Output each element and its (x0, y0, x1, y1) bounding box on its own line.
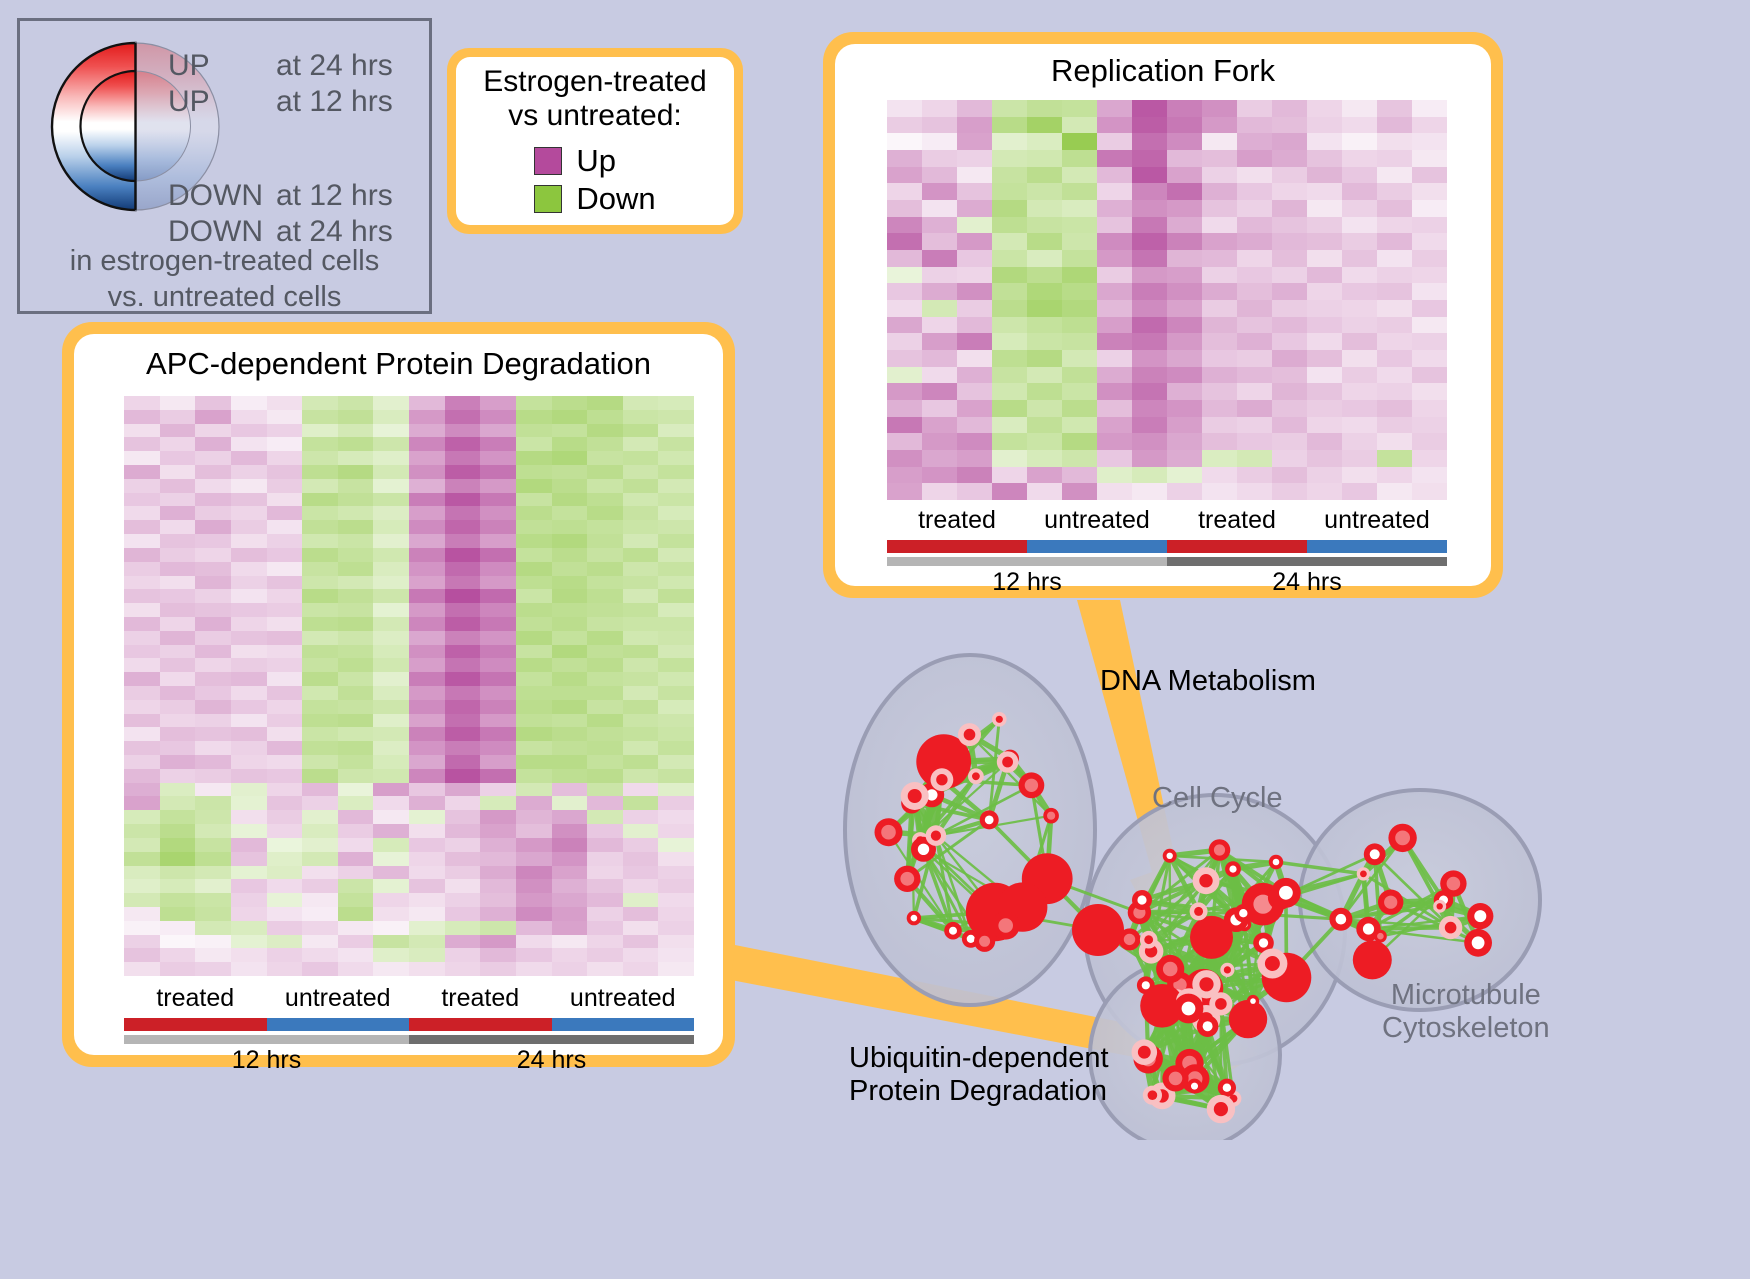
heatmap-cell (1307, 300, 1342, 317)
heatmap-cell (267, 810, 303, 824)
heatmap-cell (1377, 483, 1412, 500)
heatmap-cell (516, 962, 552, 976)
heatmap-cell (480, 824, 516, 838)
heatmap-cell (231, 479, 267, 493)
heatmap-cell (623, 562, 659, 576)
heatmap-cell (1377, 417, 1412, 434)
heatmap-cell (1027, 267, 1062, 284)
replication-fork-panel: Replication Fork treated untreated treat… (823, 32, 1503, 598)
heatmap-cell (480, 506, 516, 520)
heatmap-cell (1412, 183, 1447, 200)
heatmap-cell (409, 465, 445, 479)
heatmap-cell (1272, 283, 1307, 300)
heatmap-cell (516, 465, 552, 479)
heatmap-cell (124, 935, 160, 949)
heatmap-cell (338, 866, 374, 880)
heatmap-cell (195, 576, 231, 590)
heatmap-cell (887, 417, 922, 434)
heatmap-cell (160, 948, 196, 962)
heatmap-cell (1237, 217, 1272, 234)
heatmap-cell (516, 424, 552, 438)
heatmap-cell (1307, 467, 1342, 484)
network-node-core (1239, 909, 1247, 917)
heatmap-cell (231, 783, 267, 797)
heatmap-cell (373, 672, 409, 686)
heatmap-cell (1132, 150, 1167, 167)
heatmap-cell (409, 824, 445, 838)
heatmap-cell (267, 769, 303, 783)
heatmap-cell (302, 935, 338, 949)
heatmap-cell (1307, 383, 1342, 400)
apc-panel: APC-dependent Protein Degradation treate… (62, 322, 735, 1067)
heatmap-cell (1307, 183, 1342, 200)
heatmap-cell (1377, 150, 1412, 167)
legend-key: UP (168, 87, 276, 117)
heatmap-cell (658, 755, 694, 769)
heatmap-cell (409, 741, 445, 755)
heatmap-cell (1307, 317, 1342, 334)
heatmap-cell (231, 437, 267, 451)
heatmap-cell (1377, 317, 1412, 334)
heatmap-cell (338, 838, 374, 852)
heatmap-cell (516, 576, 552, 590)
heatmap-cell (267, 783, 303, 797)
heatmap-cell (373, 714, 409, 728)
heatmap-cell (445, 548, 481, 562)
heatmap-cell (231, 714, 267, 728)
network-node-core (1191, 1083, 1198, 1090)
network-node-core (1214, 844, 1225, 855)
heatmap-cell (957, 467, 992, 484)
heatmap-cell (516, 479, 552, 493)
heatmap-cell (623, 741, 659, 755)
heatmap-cell (587, 948, 623, 962)
heatmap-cell (623, 935, 659, 949)
heatmap-cell (302, 562, 338, 576)
heatmap-cell (1027, 433, 1062, 450)
heatmap-cell (267, 493, 303, 507)
heatmap-cell (1202, 400, 1237, 417)
heatmap-cell (658, 617, 694, 631)
heatmap-cell (373, 424, 409, 438)
heatmap-cell (302, 962, 338, 976)
heatmap-cell (552, 589, 588, 603)
heatmap-cell (1027, 417, 1062, 434)
heatmap-cell (957, 100, 992, 117)
heatmap-cell (1272, 383, 1307, 400)
heatmap-cell (1202, 133, 1237, 150)
heatmap-cell (1377, 100, 1412, 117)
legend-value: at 24 hrs (276, 51, 393, 81)
heatmap-cell (552, 935, 588, 949)
heatmap-cell (552, 479, 588, 493)
heatmap-cell (409, 838, 445, 852)
heatmap-cell (1027, 133, 1062, 150)
heatmap-cell (1167, 417, 1202, 434)
heatmap-cell (516, 562, 552, 576)
heatmap-cell (1412, 467, 1447, 484)
network-node-core (1370, 849, 1380, 859)
heatmap-cell (587, 424, 623, 438)
heatmap-cell (160, 479, 196, 493)
heatmap-cell (658, 562, 694, 576)
heatmap-cell (302, 700, 338, 714)
heatmap-cell (1272, 483, 1307, 500)
heatmap-cell (1237, 267, 1272, 284)
heatmap-cell (195, 631, 231, 645)
heatmap-cell (552, 893, 588, 907)
untreated-bar-seg (1307, 540, 1447, 553)
heatmap-cell (587, 852, 623, 866)
heatmap-cell (957, 233, 992, 250)
heatmap-cell (267, 465, 303, 479)
heatmap-cell (552, 948, 588, 962)
heatmap-cell (1412, 250, 1447, 267)
heatmap-cell (922, 217, 957, 234)
heatmap-cell (445, 727, 481, 741)
heatmap-cell (445, 424, 481, 438)
heatmap-cell (658, 714, 694, 728)
network-node-core (1199, 977, 1213, 991)
heatmap-cell (516, 700, 552, 714)
heatmap-cell (124, 493, 160, 507)
heatmap-cell (1202, 200, 1237, 217)
heatmap-cell (623, 396, 659, 410)
heatmap-cell (1307, 400, 1342, 417)
heatmap-cell (338, 935, 374, 949)
heatmap-cell (195, 948, 231, 962)
heatmap-cell (1132, 433, 1167, 450)
heatmap-cell (1307, 350, 1342, 367)
network-node[interactable] (1229, 1000, 1267, 1038)
heatmap-cell (992, 433, 1027, 450)
heatmap-cell (887, 150, 922, 167)
heatmap-cell (552, 520, 588, 534)
heatmap-cell (373, 838, 409, 852)
apc-treatment-bar (124, 1018, 694, 1031)
heatmap-cell (552, 534, 588, 548)
heatmap-cell (1272, 417, 1307, 434)
heatmap-cell (267, 589, 303, 603)
heatmap-cell (1097, 400, 1132, 417)
heatmap-cell (1342, 483, 1377, 500)
heatmap-cell (373, 755, 409, 769)
heatmap-cell (338, 879, 374, 893)
heatmap-cell (231, 796, 267, 810)
heatmap-cell (480, 658, 516, 672)
heatmap-cell (922, 150, 957, 167)
heatmap-cell (267, 631, 303, 645)
heatmap-cell (409, 672, 445, 686)
heatmap-cell (1027, 167, 1062, 184)
heatmap-cell (480, 769, 516, 783)
heatmap-cell (1167, 467, 1202, 484)
heatmap-cell (160, 866, 196, 880)
heatmap-cell (373, 796, 409, 810)
heatmap-cell (922, 167, 957, 184)
heatmap-cell (124, 658, 160, 672)
heatmap-cell (1132, 250, 1167, 267)
heatmap-cell (302, 866, 338, 880)
heatmap-cell (231, 506, 267, 520)
heatmap-cell (587, 907, 623, 921)
heatmap-cell (658, 727, 694, 741)
heatmap-cell (1132, 283, 1167, 300)
heatmap-cell (445, 686, 481, 700)
heatmap-cell (160, 520, 196, 534)
heatmap-cell (992, 400, 1027, 417)
heatmap-cell (302, 437, 338, 451)
heatmap-cell (445, 645, 481, 659)
network-node-core (1047, 812, 1055, 820)
heatmap-cell (516, 603, 552, 617)
heatmap-cell (623, 534, 659, 548)
heatmap-cell (1412, 100, 1447, 117)
heatmap-cell (623, 824, 659, 838)
heatmap-cell (195, 479, 231, 493)
heatmap-cell (338, 437, 374, 451)
heatmap-cell (1377, 333, 1412, 350)
heatmap-cell (160, 935, 196, 949)
heatmap-cell (516, 824, 552, 838)
heatmap-cell (373, 783, 409, 797)
network-node-core (1167, 853, 1173, 859)
untreated-bar-seg (267, 1018, 410, 1031)
heatmap-cell (338, 824, 374, 838)
heatmap-cell (1412, 483, 1447, 500)
network-node-core (1360, 871, 1367, 878)
heatmap-cell (338, 921, 374, 935)
heatmap-cell (1097, 350, 1132, 367)
heatmap-cell (373, 824, 409, 838)
heatmap-cell (516, 672, 552, 686)
heatmap-cell (1027, 100, 1062, 117)
heatmap-cell (124, 506, 160, 520)
heatmap-cell (1342, 283, 1377, 300)
heatmap-cell (267, 700, 303, 714)
heatmap-cell (267, 852, 303, 866)
heatmap-cell (267, 741, 303, 755)
heatmap-cell (552, 962, 588, 976)
heatmap-cell (409, 603, 445, 617)
heatmap-cell (480, 796, 516, 810)
heatmap-cell (338, 548, 374, 562)
heatmap-cell (231, 755, 267, 769)
heatmap-cell (1132, 133, 1167, 150)
heatmap-cell (1132, 117, 1167, 134)
heatmap-cell (338, 658, 374, 672)
heatmap-cell (480, 921, 516, 935)
heatmap-cell (480, 493, 516, 507)
heatmap-cell (587, 769, 623, 783)
heatmap-cell (373, 534, 409, 548)
heatmap-cell (1377, 217, 1412, 234)
heatmap-cell (1412, 367, 1447, 384)
heatmap-cell (480, 700, 516, 714)
heatmap-cell (231, 962, 267, 976)
heatmap-cell (302, 603, 338, 617)
heatmap-cell (160, 755, 196, 769)
heatmap-cell (373, 548, 409, 562)
heatmap-cell (992, 467, 1027, 484)
heatmap-cell (195, 506, 231, 520)
heatmap-cell (1342, 300, 1377, 317)
heatmap-cell (623, 962, 659, 976)
heatmap-cell (267, 451, 303, 465)
heatmap-cell (302, 424, 338, 438)
heatmap-cell (1342, 133, 1377, 150)
heatmap-cell (1027, 333, 1062, 350)
heatmap-cell (231, 700, 267, 714)
heatmap-cell (1307, 133, 1342, 150)
apc-panel-title: APC-dependent Protein Degradation (74, 334, 723, 382)
heatmap-cell (1097, 117, 1132, 134)
time12-bar-seg (124, 1035, 409, 1044)
heatmap-cell (1097, 200, 1132, 217)
heatmap-cell (516, 907, 552, 921)
network-node-core (1395, 831, 1410, 846)
heatmap-cell (124, 714, 160, 728)
heatmap-cell (231, 631, 267, 645)
heatmap-cell (195, 935, 231, 949)
heatmap-cell (267, 603, 303, 617)
heatmap-cell (160, 686, 196, 700)
heatmap-cell (124, 852, 160, 866)
heatmap-cell (1132, 233, 1167, 250)
group-label: untreated (1307, 506, 1447, 535)
network-node-core (1199, 874, 1212, 887)
network-node[interactable] (1353, 940, 1392, 979)
heatmap-cell (267, 727, 303, 741)
heatmap-cell (338, 686, 374, 700)
heatmap-cell (160, 962, 196, 976)
heatmap-cell (1272, 433, 1307, 450)
heatmap-cell (267, 838, 303, 852)
heatmap-cell (445, 838, 481, 852)
heatmap-cell (195, 714, 231, 728)
heatmap-cell (1062, 117, 1097, 134)
heatmap-cell (445, 631, 481, 645)
network-node-core (1229, 866, 1236, 873)
heatmap-cell (195, 755, 231, 769)
heatmap-cell (195, 562, 231, 576)
heatmap-cell (195, 603, 231, 617)
heatmap-cell (516, 506, 552, 520)
apc-time-labels: 12 hrs 24 hrs (124, 1046, 694, 1075)
heatmap-cell (373, 852, 409, 866)
heatmap-cell (552, 907, 588, 921)
heatmap-cell (160, 783, 196, 797)
heatmap-cell (1167, 117, 1202, 134)
heatmap-cell (1412, 117, 1447, 134)
heatmap-cell (445, 520, 481, 534)
heatmap-cell (516, 410, 552, 424)
heatmap-cell (516, 437, 552, 451)
heatmap-cell (623, 672, 659, 686)
heatmap-cell (1412, 417, 1447, 434)
heatmap-cell (231, 576, 267, 590)
heatmap-cell (887, 200, 922, 217)
network-node-core (949, 927, 957, 935)
heatmap-cell (445, 479, 481, 493)
heatmap-cell (302, 672, 338, 686)
heatmap-cell (516, 893, 552, 907)
heatmap-cell (552, 465, 588, 479)
heatmap-cell (1377, 467, 1412, 484)
heatmap-cell (1097, 100, 1132, 117)
heatmap-cell (1377, 117, 1412, 134)
network-node-core (1223, 1084, 1231, 1092)
heatmap-cell (1062, 183, 1097, 200)
group-label: treated (409, 984, 552, 1013)
heatmap-cell (887, 283, 922, 300)
heatmap-cell (1097, 167, 1132, 184)
heatmap-cell (658, 506, 694, 520)
heatmap-cell (1097, 317, 1132, 334)
heatmap-cell (1342, 450, 1377, 467)
heatmap-cell (1237, 367, 1272, 384)
heatmap-cell (1132, 217, 1167, 234)
heatmap-cell (1272, 150, 1307, 167)
heatmap-cell (302, 576, 338, 590)
heatmap-cell (338, 700, 374, 714)
heatmap-cell (195, 672, 231, 686)
heatmap-cell (552, 824, 588, 838)
heatmap-cell (623, 645, 659, 659)
heatmap-cell (195, 921, 231, 935)
heatmap-cell (124, 796, 160, 810)
heatmap-cell (124, 755, 160, 769)
heatmap-cell (267, 714, 303, 728)
heatmap-cell (409, 907, 445, 921)
heatmap-cell (160, 410, 196, 424)
heatmap-cell (409, 520, 445, 534)
heatmap-cell (302, 755, 338, 769)
heatmap-cell (480, 714, 516, 728)
heatmap-cell (195, 396, 231, 410)
heatmap-cell (623, 769, 659, 783)
heatmap-cell (623, 714, 659, 728)
heatmap-cell (922, 483, 957, 500)
heatmap-cell (1412, 267, 1447, 284)
heatmap-cell (658, 935, 694, 949)
heatmap-cell (1132, 167, 1167, 184)
heatmap-cell (887, 317, 922, 334)
heatmap-cell (587, 810, 623, 824)
replication-fork-group-labels: treated untreated treated untreated (887, 506, 1447, 535)
heatmap-cell (445, 879, 481, 893)
heatmap-cell (231, 589, 267, 603)
heatmap-cell (409, 866, 445, 880)
heatmap-cell (623, 424, 659, 438)
group-label: treated (124, 984, 267, 1013)
heatmap-cell (1272, 217, 1307, 234)
heatmap-cell (1027, 150, 1062, 167)
heatmap-cell (623, 810, 659, 824)
heatmap-cell (338, 631, 374, 645)
heatmap-cell (1167, 267, 1202, 284)
heatmap-cell (1202, 333, 1237, 350)
heatmap-cell (302, 824, 338, 838)
cluster-label-ubiquitin: Ubiquitin-dependent Protein Degradation (849, 1042, 1109, 1109)
heatmap-cell (1167, 300, 1202, 317)
network-node[interactable] (1072, 904, 1124, 956)
network-node-core (1377, 933, 1384, 940)
heatmap-cell (1167, 167, 1202, 184)
heatmap-cell (1307, 267, 1342, 284)
heatmap-cell (587, 838, 623, 852)
heatmap-cell (516, 451, 552, 465)
